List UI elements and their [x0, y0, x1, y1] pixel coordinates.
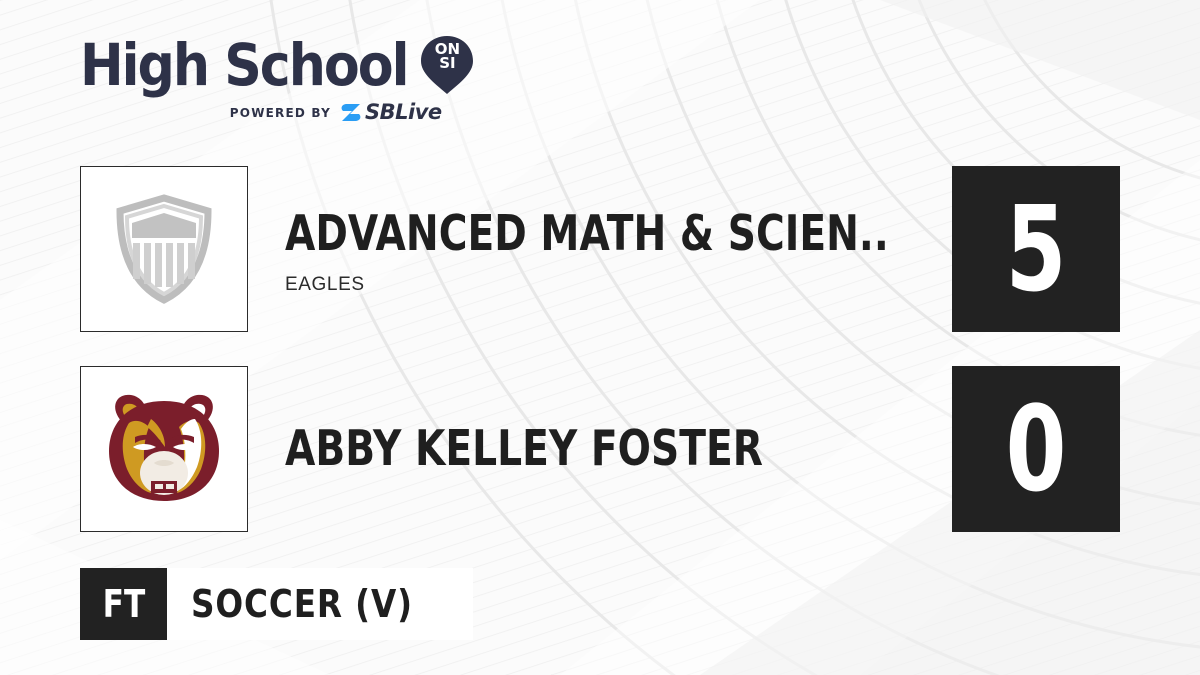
status-sport-box: SOCCER (V)	[167, 568, 473, 640]
team-logo-box	[80, 366, 248, 532]
team-info: ADVANCED MATH & SCIEN.. EAGLES	[285, 166, 1040, 332]
brand-header: High School ON SI POWERED BY SBLive	[80, 34, 481, 123]
status-code-box: FT	[80, 568, 167, 640]
team-info: ABBY KELLEY FOSTER	[285, 366, 882, 532]
bear-mascot-icon	[99, 389, 229, 509]
on-si-pin-icon: ON SI	[419, 34, 481, 96]
status-code-label: FT	[102, 582, 145, 626]
team-name: ADVANCED MATH & SCIEN..	[285, 208, 889, 260]
team-name: ABBY KELLEY FOSTER	[285, 423, 763, 475]
powered-by-label: POWERED BY	[230, 106, 331, 120]
sblive-chevron-icon	[340, 102, 362, 123]
sblive-logo: SBLive	[340, 102, 442, 123]
team-score-box: 0	[952, 366, 1120, 532]
scoreboard-row-home: ADVANCED MATH & SCIEN.. EAGLES 5	[80, 166, 1120, 332]
status-sport-label: SOCCER (V)	[191, 582, 413, 626]
sblive-wordmark: SBLive	[365, 102, 442, 123]
shield-placeholder-icon	[112, 193, 216, 305]
on-si-pin-label: ON SI	[419, 42, 475, 70]
team-score-box: 5	[952, 166, 1120, 332]
team-logo-box	[80, 166, 248, 332]
team-score: 0	[1006, 390, 1067, 508]
team-score: 5	[1006, 190, 1067, 308]
pin-line-si: SI	[419, 56, 475, 70]
brand-wordmark: High School ON SI	[80, 34, 481, 96]
brand-wordmark-text: High School	[80, 36, 407, 94]
scoreboard-row-away: ABBY KELLEY FOSTER 0	[80, 366, 1120, 532]
game-status-bar: FT SOCCER (V)	[80, 568, 473, 640]
team-mascot: EAGLES	[285, 274, 1040, 296]
powered-by-row: POWERED BY SBLive	[80, 102, 481, 123]
